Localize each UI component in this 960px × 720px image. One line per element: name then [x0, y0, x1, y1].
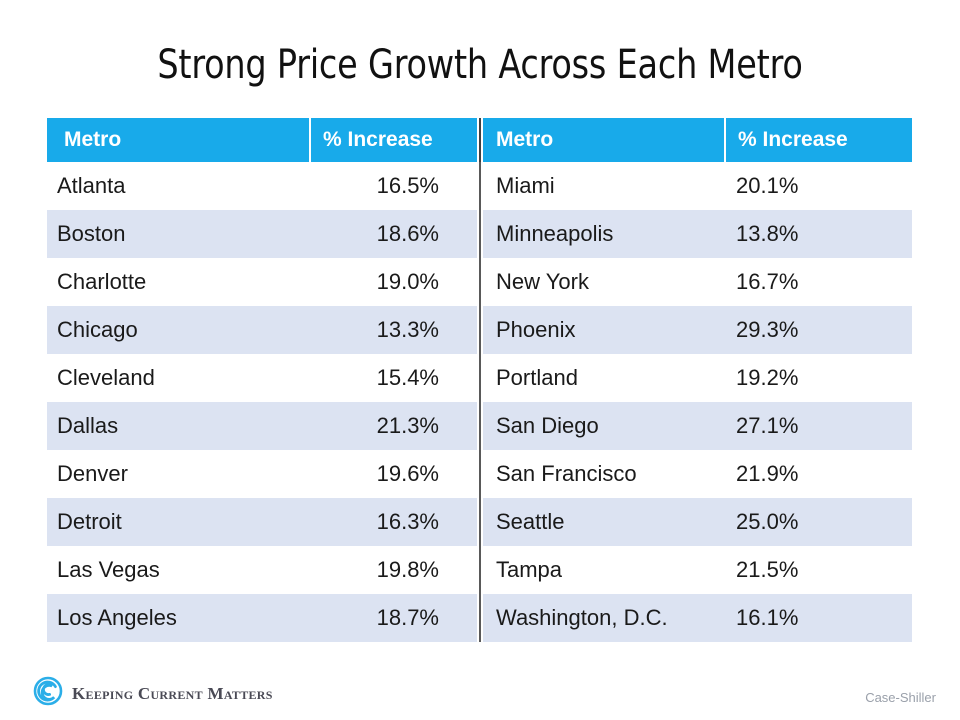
- row-center-divider: [477, 162, 483, 210]
- cell-pct-left: 13.3%: [310, 306, 477, 354]
- column-header-pct-right: % Increase: [725, 118, 912, 162]
- cell-metro-left: Dallas: [47, 402, 310, 450]
- row-center-divider: [477, 402, 483, 450]
- row-center-divider: [477, 306, 483, 354]
- row-center-divider: [477, 498, 483, 546]
- table-row: Atlanta16.5%Miami20.1%: [47, 162, 912, 210]
- row-center-divider: [477, 258, 483, 306]
- cell-metro-right: Washington, D.C.: [483, 594, 725, 642]
- table-row: Los Angeles18.7%Washington, D.C.16.1%: [47, 594, 912, 642]
- cell-metro-left: Cleveland: [47, 354, 310, 402]
- table-row: Denver19.6%San Francisco21.9%: [47, 450, 912, 498]
- metro-price-growth-table: Metro % Increase Metro % Increase Atlant…: [47, 118, 912, 642]
- cell-metro-left: Atlanta: [47, 162, 310, 210]
- table-row: Cleveland15.4%Portland19.2%: [47, 354, 912, 402]
- cell-pct-left: 19.0%: [310, 258, 477, 306]
- table-header-row: Metro % Increase Metro % Increase: [47, 118, 912, 162]
- table-row: Charlotte19.0%New York16.7%: [47, 258, 912, 306]
- table-center-divider: [477, 118, 483, 162]
- cell-pct-left: 19.6%: [310, 450, 477, 498]
- cell-pct-left: 16.5%: [310, 162, 477, 210]
- cell-pct-right: 27.1%: [725, 402, 912, 450]
- cell-pct-right: 16.7%: [725, 258, 912, 306]
- cell-pct-right: 25.0%: [725, 498, 912, 546]
- row-center-divider: [477, 594, 483, 642]
- cell-pct-right: 16.1%: [725, 594, 912, 642]
- cell-pct-right: 19.2%: [725, 354, 912, 402]
- cell-pct-right: 21.5%: [725, 546, 912, 594]
- source-attribution: Case-Shiller: [865, 690, 936, 705]
- cell-metro-left: Los Angeles: [47, 594, 310, 642]
- cell-metro-left: Denver: [47, 450, 310, 498]
- cell-metro-left: Charlotte: [47, 258, 310, 306]
- cell-pct-right: 29.3%: [725, 306, 912, 354]
- row-center-divider: [477, 546, 483, 594]
- cell-metro-left: Chicago: [47, 306, 310, 354]
- cell-pct-left: 19.8%: [310, 546, 477, 594]
- row-center-divider: [477, 450, 483, 498]
- cell-metro-right: Tampa: [483, 546, 725, 594]
- cell-pct-right: 21.9%: [725, 450, 912, 498]
- cell-metro-right: San Diego: [483, 402, 725, 450]
- cell-pct-left: 16.3%: [310, 498, 477, 546]
- brand-wordmark: Keeping Current Matters: [72, 684, 273, 704]
- cell-pct-left: 18.7%: [310, 594, 477, 642]
- cell-pct-left: 21.3%: [310, 402, 477, 450]
- table-row: Dallas21.3%San Diego27.1%: [47, 402, 912, 450]
- column-header-metro-right: Metro: [483, 118, 725, 162]
- cell-metro-left: Boston: [47, 210, 310, 258]
- cell-metro-right: Miami: [483, 162, 725, 210]
- cell-metro-right: San Francisco: [483, 450, 725, 498]
- cell-pct-right: 20.1%: [725, 162, 912, 210]
- cell-pct-left: 18.6%: [310, 210, 477, 258]
- column-header-metro-left: Metro: [47, 118, 310, 162]
- table-row: Chicago13.3%Phoenix29.3%: [47, 306, 912, 354]
- table-row: Las Vegas19.8%Tampa21.5%: [47, 546, 912, 594]
- column-header-pct-left: % Increase: [310, 118, 477, 162]
- row-center-divider: [477, 354, 483, 402]
- page-title: Strong Price Growth Across Each Metro: [34, 42, 927, 88]
- cell-metro-right: Phoenix: [483, 306, 725, 354]
- table-row: Boston18.6%Minneapolis13.8%: [47, 210, 912, 258]
- cell-pct-left: 15.4%: [310, 354, 477, 402]
- cell-metro-right: New York: [483, 258, 725, 306]
- cell-metro-right: Minneapolis: [483, 210, 725, 258]
- cell-metro-left: Las Vegas: [47, 546, 310, 594]
- cell-metro-right: Seattle: [483, 498, 725, 546]
- spiral-icon: [33, 676, 63, 711]
- cell-pct-right: 13.8%: [725, 210, 912, 258]
- table-body: Atlanta16.5%Miami20.1%Boston18.6%Minneap…: [47, 162, 912, 642]
- table-row: Detroit16.3%Seattle25.0%: [47, 498, 912, 546]
- cell-metro-left: Detroit: [47, 498, 310, 546]
- cell-metro-right: Portland: [483, 354, 725, 402]
- brand-logo: Keeping Current Matters: [33, 676, 273, 711]
- row-center-divider: [477, 210, 483, 258]
